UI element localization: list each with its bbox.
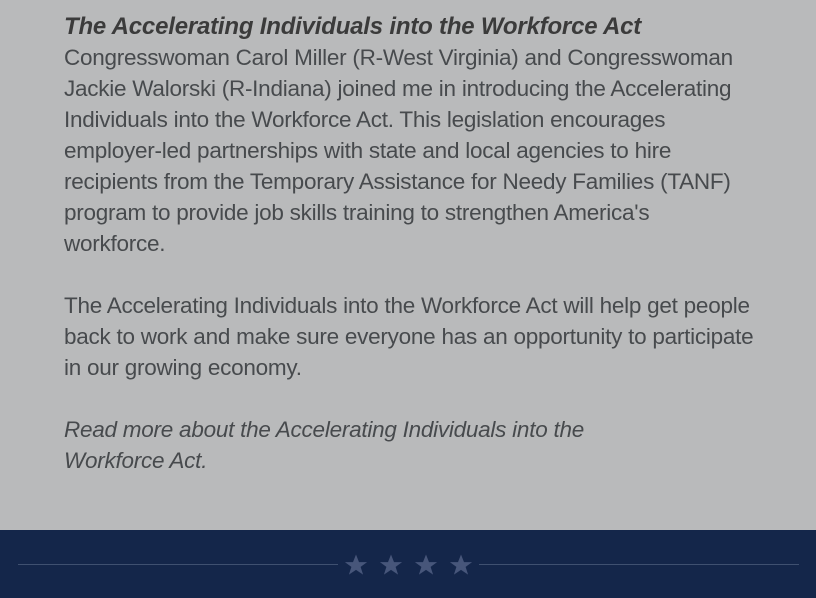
page-title: The Accelerating Individuals into the Wo… bbox=[64, 0, 754, 42]
article-content: The Accelerating Individuals into the Wo… bbox=[64, 0, 754, 476]
divider-rule-right bbox=[479, 564, 799, 565]
star-group bbox=[338, 553, 479, 577]
footer-band bbox=[0, 530, 816, 598]
star-icon bbox=[414, 553, 438, 577]
paragraph-spacer bbox=[64, 259, 754, 290]
divider-rule-left bbox=[18, 564, 338, 565]
star-icon bbox=[449, 553, 473, 577]
footer-star-divider bbox=[0, 530, 816, 598]
article-paragraph-1: Congresswoman Carol Miller (R-West Virgi… bbox=[64, 42, 754, 259]
article-paragraph-2: The Accelerating Individuals into the Wo… bbox=[64, 290, 754, 383]
paragraph-spacer bbox=[64, 383, 754, 414]
read-more-link[interactable]: Read more about the Accelerating Individ… bbox=[64, 414, 644, 476]
page-root: The Accelerating Individuals into the Wo… bbox=[0, 0, 816, 598]
star-icon bbox=[344, 553, 368, 577]
star-icon bbox=[379, 553, 403, 577]
